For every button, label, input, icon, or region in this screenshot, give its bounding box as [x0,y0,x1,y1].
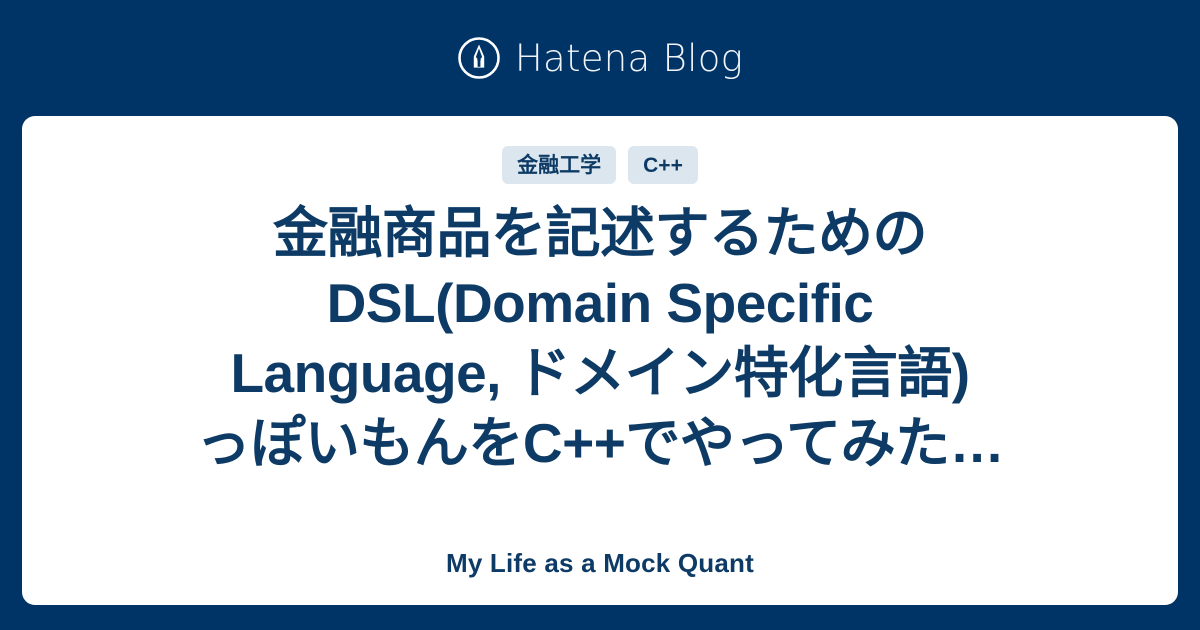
entry-title-line-4: っぽいもんをC++でやってみた… [196,408,1004,478]
entry-title-line-2: DSL(Domain Specific [327,268,874,338]
ogp-card-root: Hatena Blog 金融工学 C++ 金融商品を記述するための DSL(Do… [0,0,1200,630]
site-header: Hatena Blog [0,0,1200,116]
entry-card: 金融工学 C++ 金融商品を記述するための DSL(Domain Specifi… [22,116,1178,605]
tag-list: 金融工学 C++ [502,146,698,184]
hatena-pen-nib-icon [457,36,501,80]
entry-title[interactable]: 金融商品を記述するための DSL(Domain Specific Languag… [62,198,1138,478]
tag-badge-cpp[interactable]: C++ [628,146,698,184]
entry-title-line-3: Language, ドメイン特化言語) [230,338,969,408]
blog-name[interactable]: My Life as a Mock Quant [446,548,754,579]
entry-title-line-1: 金融商品を記述するための [273,198,927,268]
tag-badge-finance-engineering[interactable]: 金融工学 [502,146,616,184]
brand-name: Hatena Blog [515,40,743,77]
